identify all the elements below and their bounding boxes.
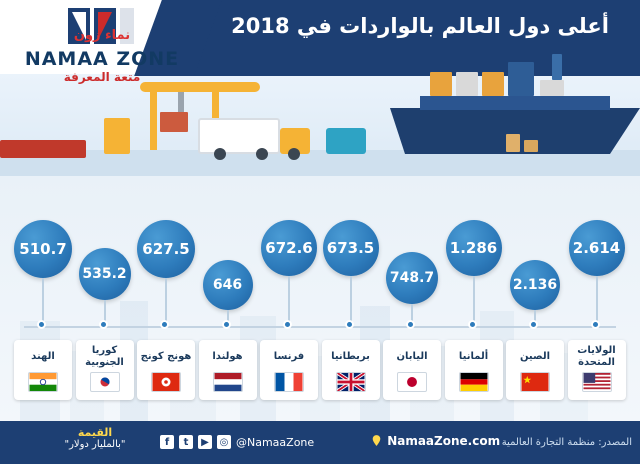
india-flag [28, 372, 58, 392]
country-name: فرنسا [262, 345, 316, 369]
social-handle[interactable]: @NamaaZone [236, 436, 314, 449]
chart-area: 510.7الهند535.2كوريا الجنوبية627.5هونج ك… [0, 176, 640, 421]
united-states-flag [582, 372, 612, 392]
crane-beam [140, 82, 260, 92]
baseline-axis [24, 326, 616, 328]
axis-node [222, 320, 231, 329]
country-name: الهند [16, 345, 70, 369]
ship-container [430, 72, 452, 96]
axis-node [529, 320, 538, 329]
truck-wheel [256, 148, 268, 160]
ship-funnel [552, 54, 562, 80]
freight-train [0, 140, 86, 158]
country-name: كوريا الجنوبية [78, 345, 132, 369]
country-name: الولايات المتحدة [570, 345, 624, 369]
country-card[interactable]: فرنسا [260, 340, 318, 400]
logo-name-text: NAMAA ZONE [12, 48, 192, 70]
france-flag [274, 372, 304, 392]
truck-wheel [288, 148, 300, 160]
unit-title: القيمة [10, 426, 180, 439]
country-card[interactable]: الصين [506, 340, 564, 400]
header-banner [190, 0, 640, 76]
source-text: المصدر: منظمة التجارة العالمية [502, 437, 632, 448]
country-card[interactable]: ألمانيا [445, 340, 503, 400]
truck-wheel [214, 148, 226, 160]
japan-flag [397, 372, 427, 392]
germany-flag [459, 372, 489, 392]
axis-node [345, 320, 354, 329]
bubble-stem [350, 276, 352, 326]
infographic-page: أعلى دول العالم بالواردات في 2018 نماء ز… [0, 0, 640, 464]
china-flag [520, 372, 550, 392]
united-kingdom-flag [336, 372, 366, 392]
twitter-icon[interactable]: t [179, 435, 193, 449]
website-text[interactable]: NamaaZone.com [387, 434, 500, 448]
country-name: اليابان [385, 345, 439, 369]
axis-node [591, 320, 600, 329]
south-korea-flag [90, 372, 120, 392]
country-card[interactable]: اليابان [383, 340, 441, 400]
ship-container [540, 80, 564, 96]
ship-bridge [508, 62, 534, 96]
country-name: هونج كونج [139, 345, 193, 369]
location-pin-icon [370, 434, 383, 447]
axis-node [99, 320, 108, 329]
logo-arabic-text: نماء زون [12, 28, 192, 43]
axis-node [406, 320, 415, 329]
value-bubble: 646 [203, 260, 253, 310]
netherlands-flag [213, 372, 243, 392]
value-bubble: 510.7 [14, 220, 72, 278]
value-bubble: 672.6 [261, 220, 317, 276]
bubble-stem [165, 278, 167, 326]
country-name: بريطانيا [324, 345, 378, 369]
bubble-stem [288, 276, 290, 326]
bubble-stem [596, 276, 598, 326]
cargo-ship-deck [420, 96, 610, 110]
country-card[interactable]: كوريا الجنوبية [76, 340, 134, 400]
country-card[interactable]: هولندا [199, 340, 257, 400]
crate [506, 134, 520, 152]
bubble-stem [473, 276, 475, 326]
ship-container [482, 72, 504, 96]
crane-container [160, 112, 188, 132]
country-name: ألمانيا [447, 345, 501, 369]
country-card[interactable]: الهند [14, 340, 72, 400]
ship-container [456, 72, 478, 96]
logo: نماء زون NAMAA ZONE متعة المعرفة [12, 6, 192, 92]
website-link[interactable]: NamaaZone.com [370, 434, 500, 448]
bubble-stem [42, 278, 44, 326]
crane-leg [150, 82, 157, 150]
country-name: الصين [508, 345, 562, 369]
value-bubble: 748.7 [386, 252, 438, 304]
unit-legend: القيمة "بالمليار دولار" [10, 426, 180, 450]
value-bubble: 2.614 [569, 220, 625, 276]
footer: القيمة "بالمليار دولار" f t ▶ ◎ @NamaaZo… [0, 421, 640, 464]
value-bubble: 1.286 [446, 220, 502, 276]
unit-value: "بالمليار دولار" [10, 439, 180, 450]
instagram-icon[interactable]: ◎ [217, 435, 231, 449]
hong-kong-flag [151, 372, 181, 392]
value-bubble: 673.5 [323, 220, 379, 276]
axis-node [37, 320, 46, 329]
country-card[interactable]: هونج كونج [137, 340, 195, 400]
value-bubble: 535.2 [79, 248, 131, 300]
forklift [104, 118, 130, 154]
axis-node [468, 320, 477, 329]
axis-node [283, 320, 292, 329]
crate [524, 140, 538, 152]
country-card[interactable]: بريطانيا [322, 340, 380, 400]
header: أعلى دول العالم بالواردات في 2018 نماء ز… [0, 0, 640, 176]
country-name: هولندا [201, 345, 255, 369]
youtube-icon[interactable]: ▶ [198, 435, 212, 449]
value-bubble: 627.5 [137, 220, 195, 278]
facebook-icon[interactable]: f [160, 435, 174, 449]
truck-trailer [198, 118, 280, 154]
social-links[interactable]: f t ▶ ◎ @NamaaZone [160, 435, 360, 449]
axis-node [160, 320, 169, 329]
value-bubble: 2.136 [510, 260, 560, 310]
page-title: أعلى دول العالم بالواردات في 2018 [210, 14, 630, 38]
forklift-body [326, 128, 366, 154]
country-card[interactable]: الولايات المتحدة [568, 340, 626, 400]
